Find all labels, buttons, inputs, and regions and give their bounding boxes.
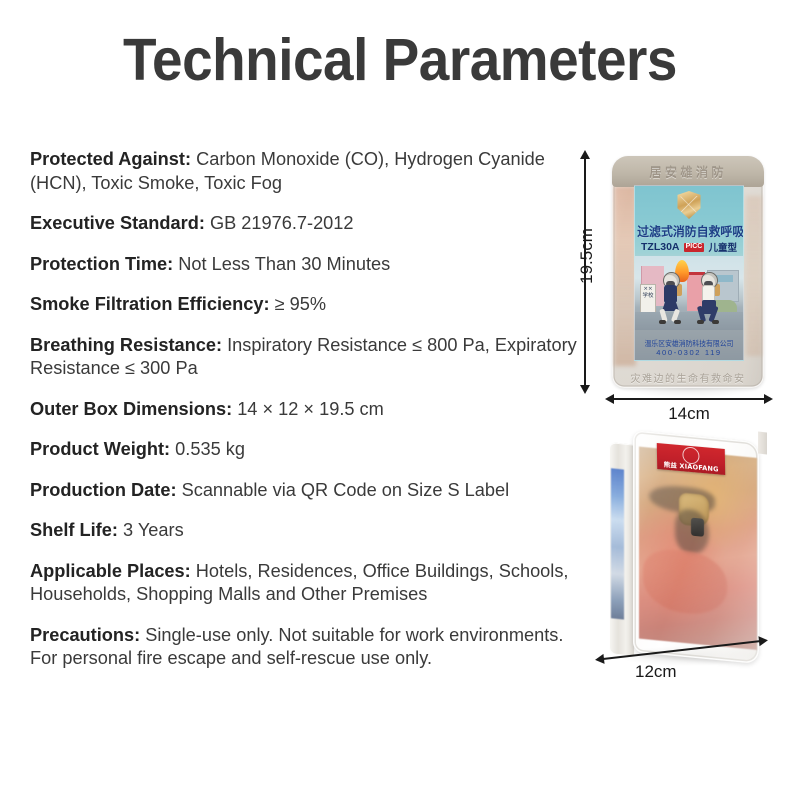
dimension-label-height: 19.5cm — [577, 228, 597, 284]
spec-value: ≥ 95% — [275, 294, 326, 314]
child-shoe-right — [674, 320, 681, 324]
product-figures: 居安雄消防 过滤式消防自救呼吸器 TZL30A PICC 儿童型 ××学校 — [575, 150, 800, 710]
lid-embossed-text: 居安雄消防 — [649, 162, 727, 181]
spec-value: 0.535 kg — [175, 439, 245, 459]
shield-emblem-icon — [678, 191, 701, 219]
spec-label: Protected Against — [30, 149, 185, 169]
spec-label: Shelf Life — [30, 520, 112, 540]
label-title-chinese: 过滤式消防自救呼吸器 — [637, 222, 741, 240]
label-model-row: TZL30A PICC 儿童型 — [635, 240, 743, 254]
spec-colon: : — [226, 399, 232, 419]
spec-row-executive-standard: Executive Standard: GB 21976.7-2012 — [30, 212, 586, 236]
spec-label: Breathing Resistance — [30, 335, 216, 355]
page-title: Technical Parameters — [28, 26, 772, 94]
seal-wrap-tab — [758, 432, 767, 455]
product-label-front: 过滤式消防自救呼吸器 TZL30A PICC 儿童型 ××学校 — [634, 185, 744, 361]
spec-row-precautions: Precautions: Single-use only. Not suitab… — [30, 624, 586, 671]
scene-child-figure-right — [697, 272, 723, 322]
spec-row-protected-against: Protected Against: Carbon Monoxide (CO),… — [30, 148, 586, 195]
scene-ground — [635, 312, 743, 330]
spec-colon: : — [164, 439, 170, 459]
hood-bleed-right — [746, 196, 762, 356]
spec-label: Protection Time — [30, 254, 167, 274]
spec-colon: : — [167, 254, 173, 274]
dimension-label-depth: 12cm — [635, 662, 677, 682]
spec-row-product-weight: Product Weight: 0.535 kg — [30, 438, 586, 462]
product-photo-front-view: 居安雄消防 过滤式消防自救呼吸器 TZL30A PICC 儿童型 ××学校 — [575, 150, 800, 425]
dimension-arrow-horizontal — [613, 398, 765, 400]
hood-filter-canister — [691, 518, 704, 537]
scene-school-sign: ××学校 — [640, 284, 656, 314]
spec-label: Smoke Filtration Efficiency — [30, 294, 263, 314]
spec-row-shelf-life: Shelf Life: 3 Years — [30, 519, 586, 543]
spec-colon: : — [112, 520, 118, 540]
spec-label: Applicable Places — [30, 561, 185, 581]
child-shoe-left — [697, 320, 704, 324]
spec-value: Not Less Than 30 Minutes — [178, 254, 390, 274]
dimension-label-width: 14cm — [613, 404, 765, 424]
spec-row-outer-box-dimensions: Outer Box Dimensions: 14 × 12 × 19.5 cm — [30, 398, 586, 422]
box-bottom-embossed-text: 灾难边的生命有救命安 — [612, 370, 764, 385]
child-torso — [664, 285, 677, 302]
product-photo-angle-view: 熊益 XIAOFANG 12cm — [575, 422, 800, 692]
spec-value: 14 × 12 × 19.5 cm — [237, 399, 384, 419]
label-company-name: 温乐区安雄消防科技有限公司 — [638, 339, 741, 348]
spec-colon: : — [263, 294, 269, 314]
spec-value: Scannable via QR Code on Size S Label — [182, 480, 510, 500]
spec-label: Precautions — [30, 625, 134, 645]
spec-value: 3 Years — [123, 520, 184, 540]
label-footer: 温乐区安雄消防科技有限公司 400-0302 119 — [635, 339, 743, 357]
spec-label: Executive Standard — [30, 213, 199, 233]
box-lid-band: 居安雄消防 — [612, 156, 764, 187]
spec-value: GB 21976.7-2012 — [210, 213, 354, 233]
spec-colon: : — [199, 213, 205, 233]
spec-row-smoke-filtration-efficiency: Smoke Filtration Efficiency: ≥ 95% — [30, 293, 586, 317]
product-box-angled: 熊益 XIAOFANG — [609, 430, 759, 658]
spec-label: Product Weight — [30, 439, 164, 459]
product-box-front: 居安雄消防 过滤式消防自救呼吸器 TZL30A PICC 儿童型 ××学校 — [612, 156, 764, 388]
technical-parameters-list: Protected Against: Carbon Monoxide (CO),… — [30, 148, 586, 671]
spec-row-breathing-resistance: Breathing Resistance: Inspiratory Resist… — [30, 334, 586, 381]
spec-row-production-date: Production Date: Scannable via QR Code o… — [30, 479, 586, 503]
label-phone-number: 400-0302 119 — [635, 348, 743, 357]
child-shoe-right — [712, 320, 719, 324]
hood-bleed-left — [614, 186, 636, 366]
spec-colon: : — [170, 480, 176, 500]
child-shoe-left — [659, 320, 666, 324]
box-side-panel — [609, 442, 635, 657]
label-illustration-scene: ××学校 — [635, 256, 743, 330]
spec-label: Production Date — [30, 480, 170, 500]
spec-row-protection-time: Protection Time: Not Less Than 30 Minute… — [30, 253, 586, 277]
spec-label: Outer Box Dimensions — [30, 399, 226, 419]
spec-colon: : — [185, 149, 191, 169]
scene-child-figure-left — [659, 272, 685, 322]
label-model-number: TZL30A — [641, 241, 680, 253]
box-side-label-edge — [611, 468, 624, 619]
picc-insurer-badge: PICC — [684, 243, 705, 252]
label-variant-chinese: 儿童型 — [708, 240, 737, 254]
spec-colon: : — [185, 561, 191, 581]
spec-colon: : — [134, 625, 140, 645]
spec-row-applicable-places: Applicable Places: Hotels, Residences, O… — [30, 560, 586, 607]
spec-colon: : — [216, 335, 222, 355]
